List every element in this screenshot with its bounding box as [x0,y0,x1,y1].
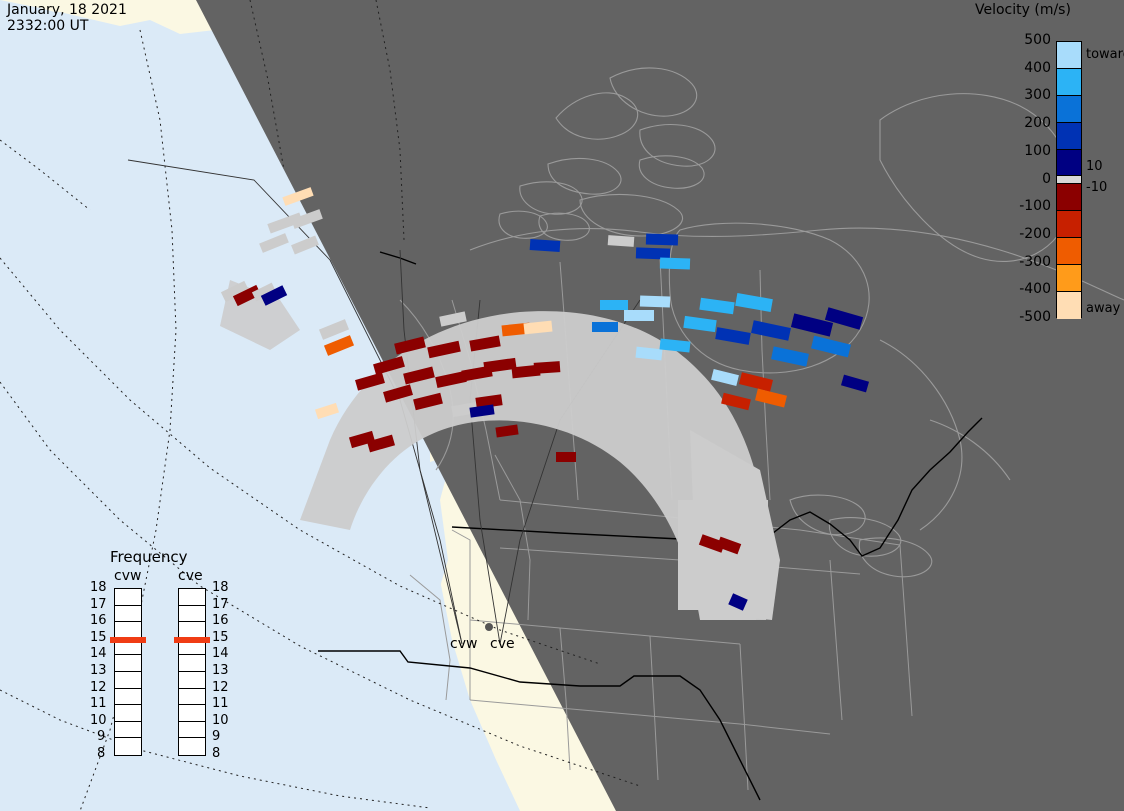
station-label-cve: cve [490,636,515,652]
station-marker-layer [0,0,1124,811]
map-visualization: January, 18 2021 2332:00 UT Velocity (m/… [0,0,1124,811]
station-label-cvw: cvw [450,636,477,652]
station-dot [485,623,493,631]
